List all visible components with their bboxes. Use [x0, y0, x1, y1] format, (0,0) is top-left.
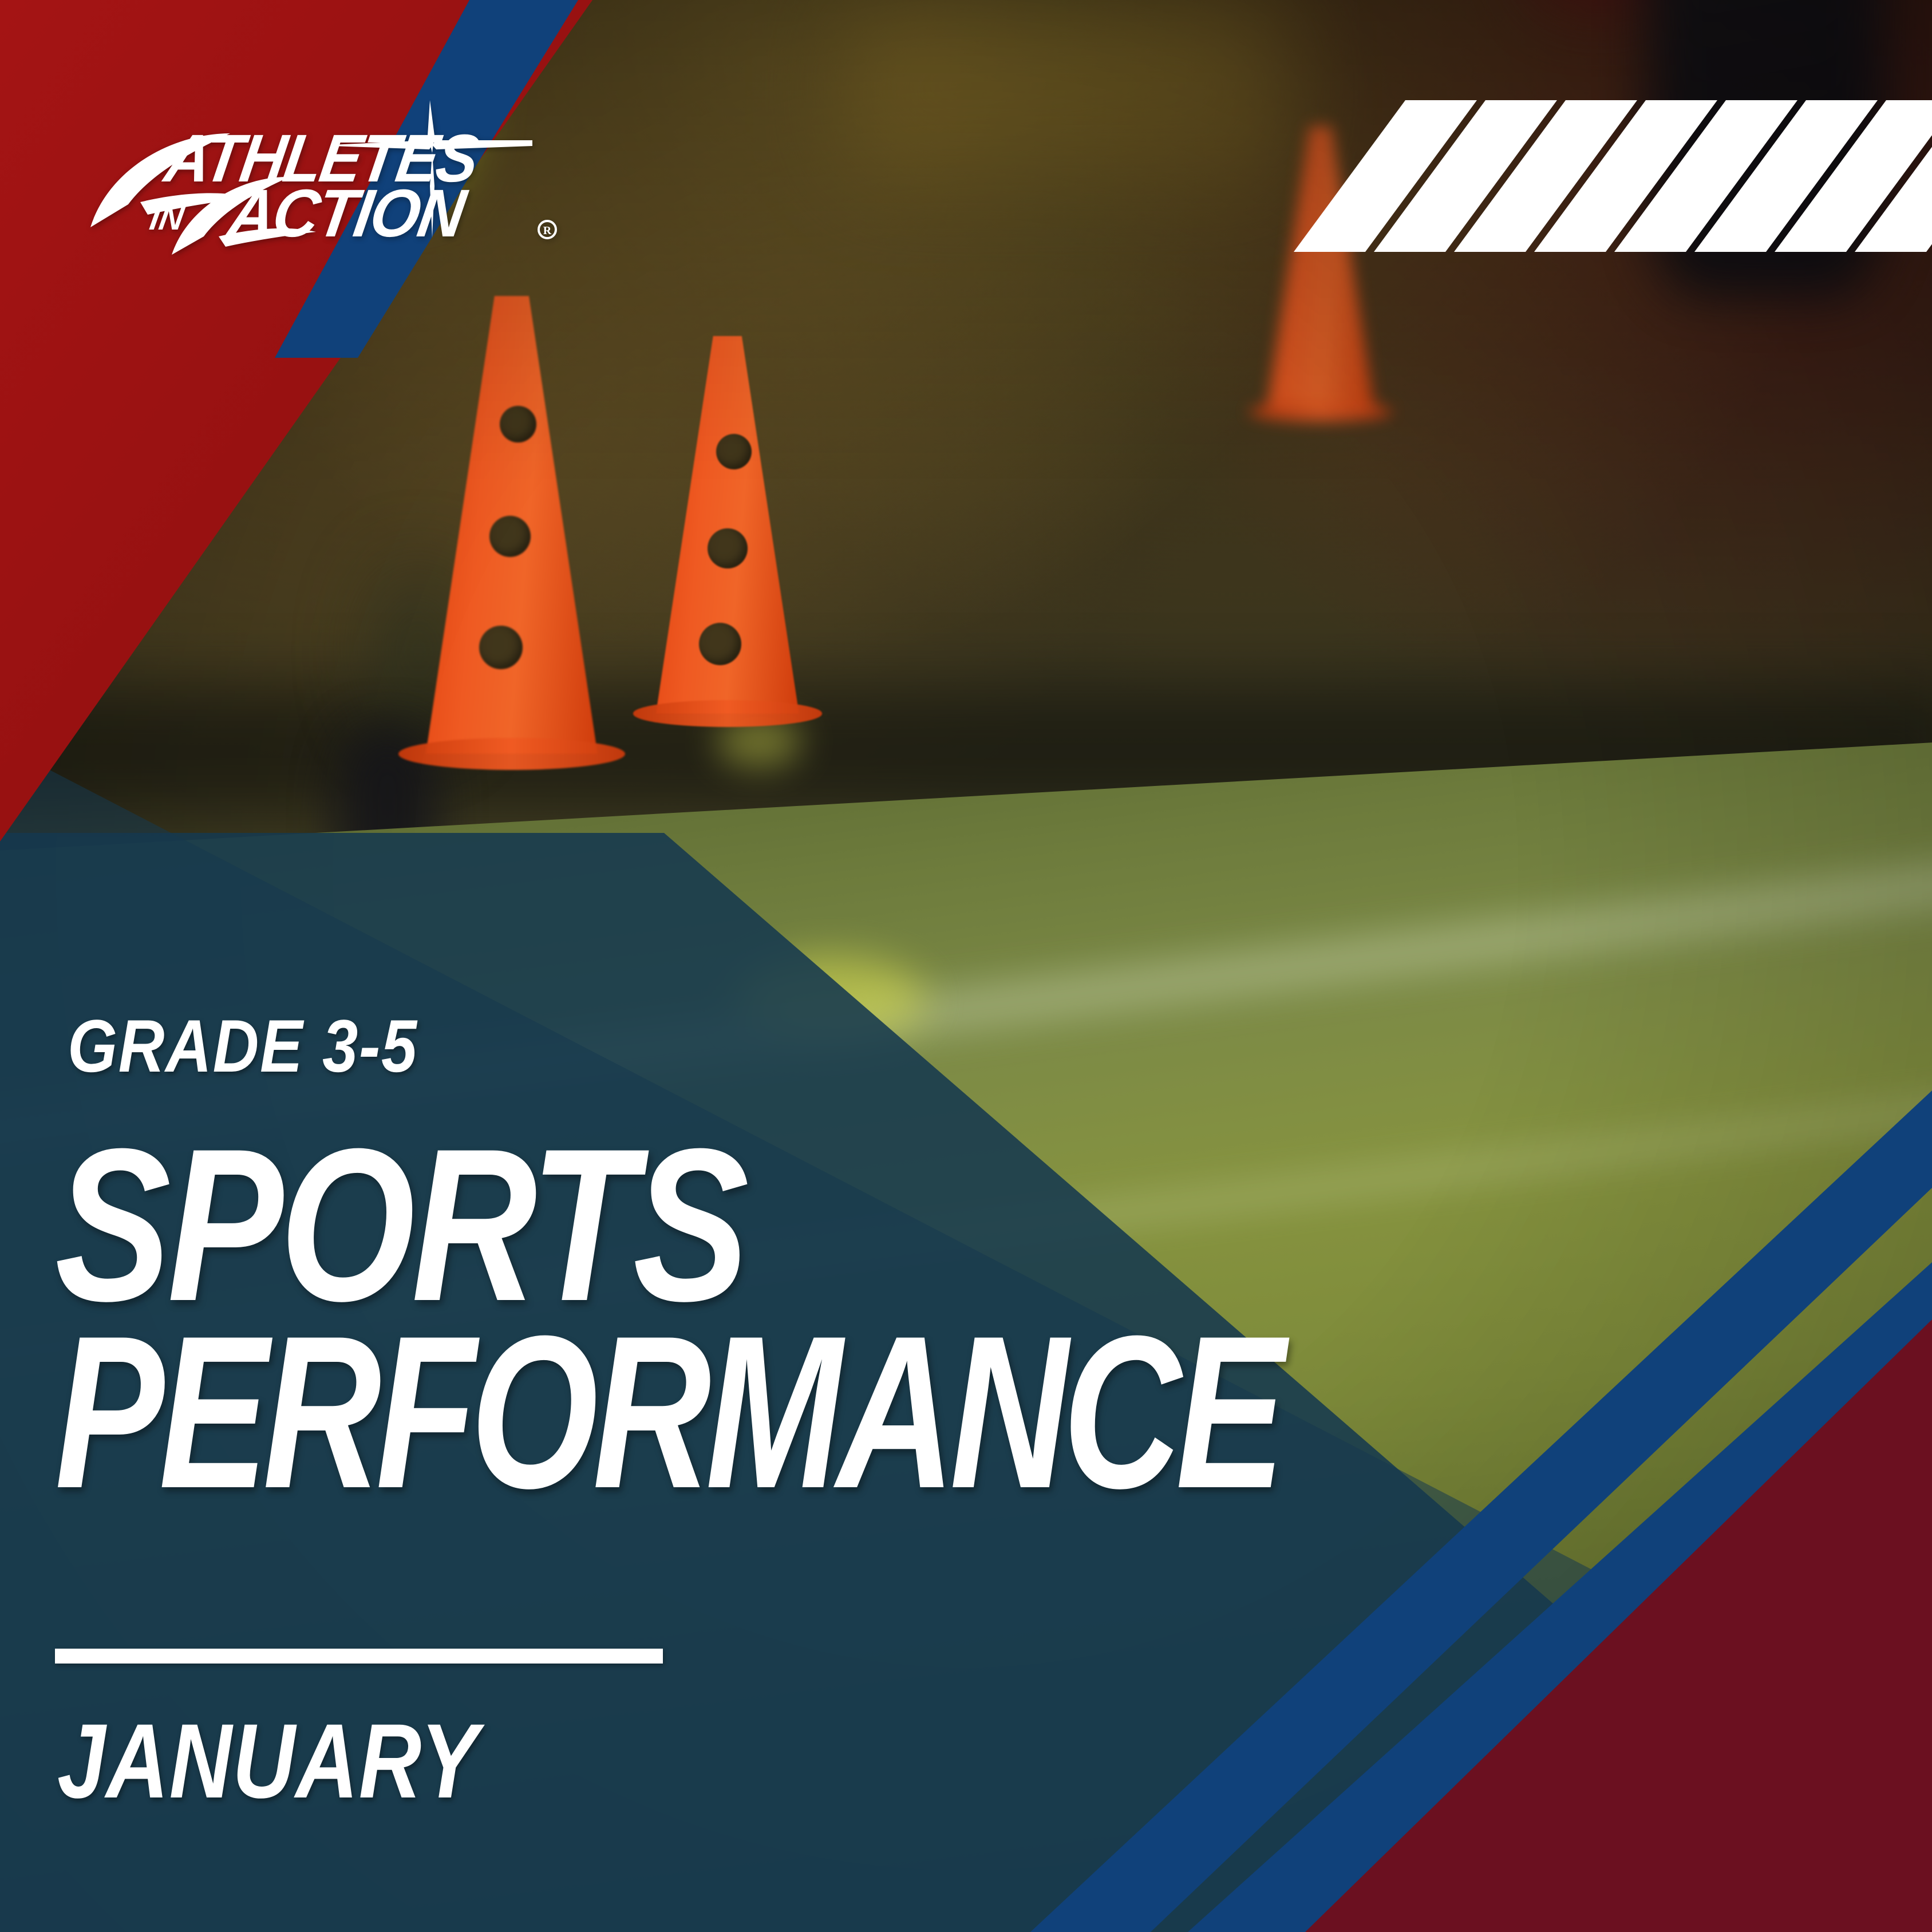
title-divider [55, 1649, 663, 1664]
grade-eyebrow: GRADE 3-5 [68, 1009, 418, 1083]
title-line-1: SPORTS [55, 1133, 1353, 1316]
month-label: JANUARY [57, 1709, 479, 1815]
promo-poster: ATHLETES IN ACTION R GRADE 3-5 SPORTS PE… [0, 0, 1932, 1932]
poster-text-block: GRADE 3-5 SPORTS PERFORMANCE JANUARY [0, 0, 1932, 1932]
title-line-2: PERFORMANCE [55, 1321, 1279, 1503]
page-title: SPORTS PERFORMANCE [55, 1133, 1677, 1503]
